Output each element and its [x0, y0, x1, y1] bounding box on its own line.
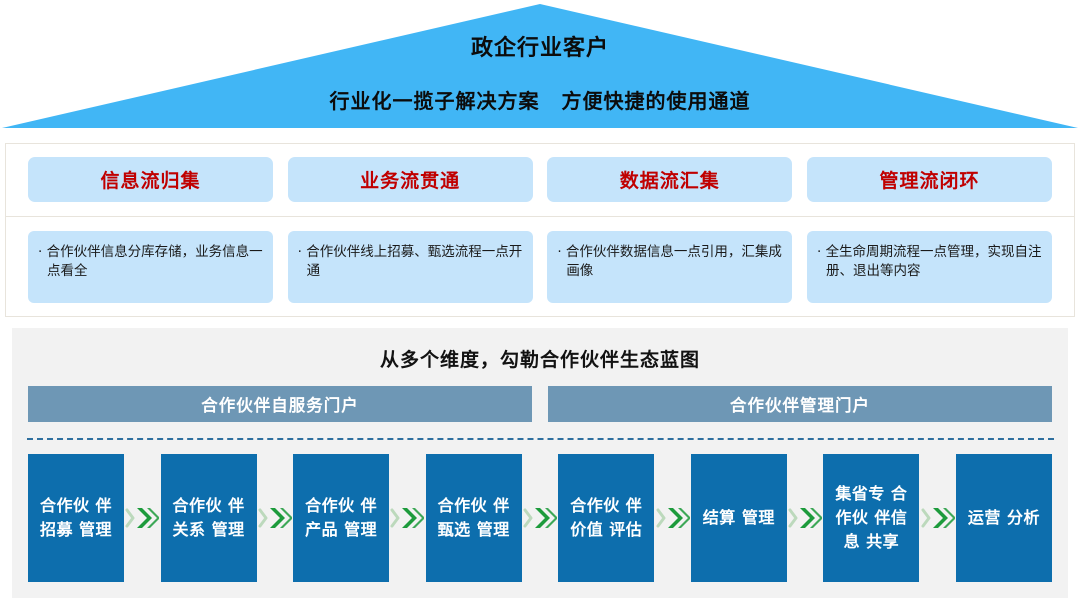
portal-bar-row: 合作伙伴自服务门户 合作伙伴管理门户: [28, 386, 1052, 422]
stream-pill-label: 管理流闭环: [879, 166, 979, 193]
stream-detail-text: 合作伙伴线上招募、甄选流程一点开通: [298, 243, 523, 281]
process-step-settlement-management[interactable]: 结算 管理: [691, 454, 787, 582]
process-step-partner-product[interactable]: 合作伙 伴产品 管理: [293, 454, 389, 582]
chevron-right-icon: [390, 454, 424, 582]
roof-banner: [0, 0, 1080, 132]
portal-bar-self-service[interactable]: 合作伙伴自服务门户: [28, 386, 532, 422]
stream-pill-row: 信息流归集 业务流贯通 数据流汇集 管理流闭环: [5, 143, 1075, 216]
chevron-right-icon: [258, 454, 292, 582]
stream-detail-text: 合作伙伴数据信息一点引用，汇集成画像: [557, 243, 782, 281]
portal-bar-management[interactable]: 合作伙伴管理门户: [548, 386, 1052, 422]
process-step-label: 结算 管理: [703, 506, 775, 530]
stream-detail-business: 合作伙伴线上招募、甄选流程一点开通: [288, 231, 533, 303]
ecosystem-panel: 从多个维度，勾勒合作伙伴生态蓝图 合作伙伴自服务门户 合作伙伴管理门户 合作伙 …: [12, 328, 1068, 598]
diagram-canvas: 政企行业客户 行业化一揽子解决方案方便快捷的使用通道 信息流归集 业务流贯通 数…: [0, 0, 1080, 608]
portal-bar-label: 合作伙伴自服务门户: [201, 392, 359, 416]
roof-triangle-shape: [0, 0, 1080, 132]
chevron-right-icon: [788, 454, 822, 582]
stream-pill-label: 数据流汇集: [620, 166, 720, 193]
stream-pill-information[interactable]: 信息流归集: [28, 157, 273, 202]
process-step-partner-recruitment[interactable]: 合作伙 伴招募 管理: [28, 454, 124, 582]
chevron-right-icon: [656, 454, 690, 582]
stream-detail-management: 全生命周期流程一点管理，实现自注册、退出等内容: [807, 231, 1052, 303]
process-step-label: 运营 分析: [968, 506, 1040, 530]
process-step-partner-relationship[interactable]: 合作伙 伴关系 管理: [161, 454, 257, 582]
process-step-label: 合作伙 伴价值 评估: [562, 494, 650, 542]
process-step-label: 集省专 合作伙 伴信息 共享: [827, 482, 915, 554]
stream-detail-information: 合作伙伴信息分库存储，业务信息一点看全: [28, 231, 273, 303]
stream-detail-row: 合作伙伴信息分库存储，业务信息一点看全 合作伙伴线上招募、甄选流程一点开通 合作…: [5, 217, 1075, 317]
portal-dashed-divider: [27, 438, 1054, 440]
process-step-label: 合作伙 伴产品 管理: [297, 494, 385, 542]
process-step-partner-value-assessment[interactable]: 合作伙 伴价值 评估: [558, 454, 654, 582]
process-step-label: 合作伙 伴招募 管理: [32, 494, 120, 542]
chevron-right-icon: [523, 454, 557, 582]
process-step-label: 合作伙 伴关系 管理: [165, 494, 253, 542]
portal-bar-label: 合作伙伴管理门户: [730, 392, 870, 416]
chevron-right-icon: [125, 454, 159, 582]
process-step-label: 合作伙 伴甄选 管理: [430, 494, 518, 542]
stream-detail-data: 合作伙伴数据信息一点引用，汇集成画像: [547, 231, 792, 303]
stream-pill-label: 信息流归集: [100, 166, 200, 193]
process-step-provincial-info-sharing[interactable]: 集省专 合作伙 伴信息 共享: [823, 454, 919, 582]
stream-pill-data[interactable]: 数据流汇集: [547, 157, 792, 202]
stream-detail-text: 合作伙伴信息分库存储，业务信息一点看全: [38, 243, 263, 281]
process-step-operation-analysis[interactable]: 运营 分析: [956, 454, 1052, 582]
stream-pill-management[interactable]: 管理流闭环: [807, 157, 1052, 202]
stream-pill-label: 业务流贯通: [360, 166, 460, 193]
stream-detail-text: 全生命周期流程一点管理，实现自注册、退出等内容: [817, 243, 1042, 281]
chevron-right-icon: [921, 454, 955, 582]
process-step-partner-selection[interactable]: 合作伙 伴甄选 管理: [426, 454, 522, 582]
panel-title: 从多个维度，勾勒合作伙伴生态蓝图: [12, 345, 1068, 372]
process-chain: 合作伙 伴招募 管理 合作伙 伴关系 管理 合作: [28, 454, 1052, 582]
stream-pill-business[interactable]: 业务流贯通: [288, 157, 533, 202]
